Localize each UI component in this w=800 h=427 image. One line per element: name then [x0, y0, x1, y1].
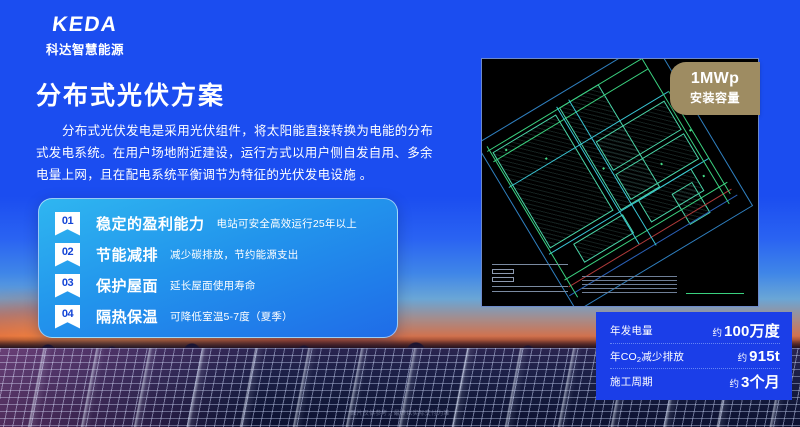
cad-note-line: [582, 292, 677, 293]
cad-legend-swatch: [492, 277, 514, 282]
feature-row: 02 节能减排 减少碳排放，节约能源支出: [39, 239, 397, 270]
feature-description: 减少碳排放，节约能源支出: [170, 247, 298, 262]
capacity-label: 安装容量: [690, 89, 740, 106]
feature-description: 电站可安全高效运行25年以上: [217, 216, 357, 231]
number-badge-icon: 03: [55, 274, 80, 298]
stat-row: 年发电量 约 100万度: [610, 318, 780, 343]
cad-legend: [492, 260, 568, 296]
feature-list-card: 01 稳定的盈利能力 电站可安全高效运行25年以上 02 节能减排 减少碳排放，…: [38, 198, 398, 338]
feature-description: 延长屋面使用寿命: [170, 278, 256, 293]
feature-title: 隔热保温: [96, 306, 158, 327]
intro-paragraph: 分布式光伏发电是采用光伏组件，将太阳能直接转换为电能的分布式发电系统。在用户场地…: [36, 120, 436, 186]
stat-label-prefix: 年CO: [610, 351, 637, 363]
stat-approx-prefix: 约: [730, 376, 740, 390]
cad-note-line: [582, 284, 677, 285]
stat-label: 年发电量: [610, 323, 653, 338]
stat-number: 100万度: [724, 320, 780, 341]
stat-value: 约 3个月: [730, 371, 780, 392]
page-title: 分布式光伏方案: [36, 76, 225, 112]
stat-row: 年CO2减少排放 约 915t: [610, 343, 780, 368]
capacity-value: 1MWp: [691, 71, 739, 88]
stat-number: 3个月: [741, 371, 780, 392]
slide-root: KEDA 科达智慧能源 分布式光伏方案 分布式光伏发电是采用光伏组件，将太阳能直…: [0, 0, 800, 427]
brand-logo-mark: KEDA: [25, 14, 146, 35]
cad-note-line: [582, 280, 677, 281]
feature-title: 保护屋面: [96, 275, 158, 296]
feature-number: 03: [62, 277, 73, 289]
feature-row: 01 稳定的盈利能力 电站可安全高效运行25年以上: [39, 208, 397, 239]
feature-number: 01: [62, 215, 73, 227]
capacity-badge: 1MWp 安装容量: [670, 62, 760, 115]
cad-notes-block: [582, 273, 692, 296]
feature-title: 节能减排: [96, 244, 158, 265]
cad-legend-line: [492, 264, 568, 265]
cad-legend-line: [492, 286, 568, 287]
stat-row: 施工周期 约 3个月: [610, 368, 780, 393]
brand-logo-name: 科达智慧能源: [26, 39, 144, 58]
number-badge-icon: 02: [55, 243, 80, 267]
cad-note-line: [582, 276, 677, 277]
feature-title: 稳定的盈利能力: [96, 213, 205, 234]
stat-approx-prefix: 约: [712, 325, 722, 339]
footer-disclaimer: 图片仅供参考，最终以实际交付为准: [0, 408, 800, 417]
stat-label-suffix: 减少排放: [641, 351, 684, 363]
stat-value: 约 100万度: [712, 320, 780, 341]
feature-row: 04 隔热保温 可降低室温5-7度（夏季）: [39, 301, 397, 332]
stats-panel: 年发电量 约 100万度 年CO2减少排放 约 915t 施工周期 约 3个月: [596, 312, 792, 400]
cad-note-line: [582, 288, 677, 289]
feature-description: 可降低室温5-7度（夏季）: [170, 309, 293, 324]
brand-logo: KEDA 科达智慧能源: [26, 14, 144, 58]
stat-number: 915t: [749, 348, 780, 365]
stat-label-subscript: 2: [637, 355, 641, 364]
cad-legend-line: [492, 291, 568, 292]
feature-number: 04: [62, 308, 73, 320]
number-badge-icon: 01: [55, 212, 80, 236]
feature-row: 03 保护屋面 延长屋面使用寿命: [39, 270, 397, 301]
cad-scale-bar: [686, 293, 744, 294]
number-badge-icon: 04: [55, 305, 80, 329]
stat-label: 年CO2减少排放: [610, 349, 684, 364]
stat-value: 约 915t: [738, 348, 780, 365]
feature-number: 02: [62, 246, 73, 258]
cad-legend-swatch: [492, 269, 514, 274]
stat-label: 施工周期: [610, 374, 653, 389]
stat-approx-prefix: 约: [738, 350, 748, 364]
